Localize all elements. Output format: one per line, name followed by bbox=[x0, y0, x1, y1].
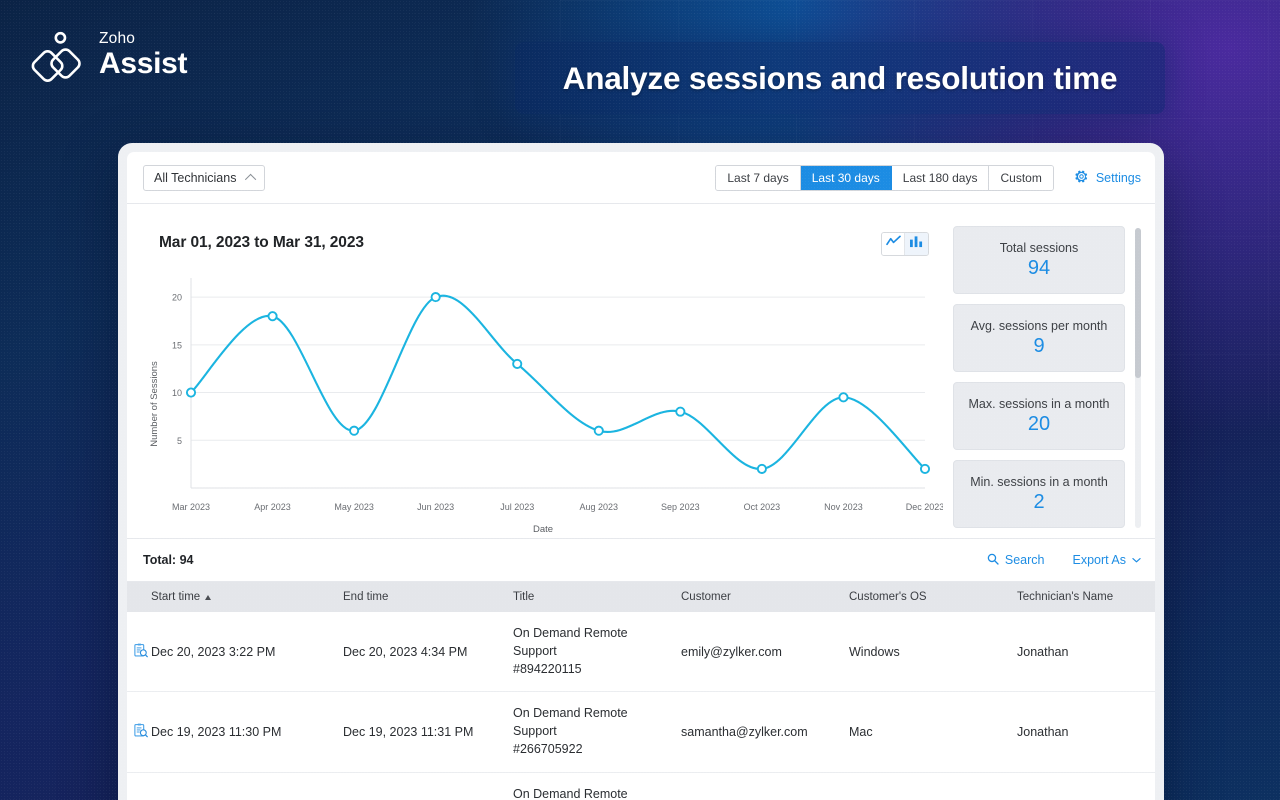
x-axis-tick-label: Dec 2023 bbox=[906, 502, 943, 512]
chart-series-line bbox=[191, 296, 925, 469]
row-end-time: Nov 29, 2023 7:11 AM bbox=[337, 772, 507, 800]
app-window: All Technicians Last 7 days Last 30 days… bbox=[118, 143, 1164, 800]
logo-zoho-text: Zoho bbox=[99, 31, 187, 47]
range-last-7-days[interactable]: Last 7 days bbox=[716, 166, 800, 190]
row-start-time: Dec 19, 2023 11:30 PM bbox=[145, 692, 337, 772]
stat-value: 94 bbox=[1028, 257, 1050, 280]
settings-button[interactable]: Settings bbox=[1074, 169, 1141, 187]
table-row[interactable]: Dec 20, 2023 3:22 PMDec 20, 2023 4:34 PM… bbox=[127, 612, 1155, 692]
x-axis-tick-label: Nov 2023 bbox=[824, 502, 863, 512]
x-axis-tick-label: Mar 2023 bbox=[172, 502, 210, 512]
chart-range-title: Mar 01, 2023 to Mar 31, 2023 bbox=[143, 220, 364, 252]
search-icon bbox=[987, 553, 999, 568]
chart-data-point[interactable] bbox=[187, 388, 195, 396]
sort-ascending-icon bbox=[205, 595, 211, 600]
stat-label: Total sessions bbox=[1000, 241, 1079, 255]
date-range-segmented-control: Last 7 days Last 30 days Last 180 days C… bbox=[715, 165, 1053, 191]
row-technician: Jonathan bbox=[1011, 692, 1155, 772]
col-label: Title bbox=[513, 591, 534, 603]
row-title: On Demand RemoteSupport#894220115 bbox=[507, 612, 675, 692]
col-label: Technician's Name bbox=[1017, 591, 1113, 603]
table-col-icon bbox=[127, 582, 145, 612]
range-custom[interactable]: Custom bbox=[989, 166, 1052, 190]
row-report-icon-cell[interactable] bbox=[127, 692, 145, 772]
session-list-table: Start time End time Title Customer bbox=[127, 582, 1155, 800]
row-report-icon-cell[interactable] bbox=[127, 612, 145, 692]
slide-title-banner: Analyze sessions and resolution time bbox=[515, 42, 1165, 114]
stat-label: Max. sessions in a month bbox=[968, 397, 1109, 411]
chart-y-axis-label: Number of Sessions bbox=[149, 361, 160, 447]
y-axis-tick-label: 10 bbox=[172, 388, 182, 398]
range-last-180-days[interactable]: Last 180 days bbox=[892, 166, 990, 190]
export-as-button[interactable]: Export As bbox=[1073, 553, 1142, 567]
x-axis-tick-label: Sep 2023 bbox=[661, 502, 700, 512]
summary-stats-column: Total sessions 94 Avg. sessions per mont… bbox=[953, 220, 1141, 538]
gear-icon bbox=[1074, 169, 1089, 187]
chart-view-toggle bbox=[881, 232, 929, 256]
settings-label: Settings bbox=[1096, 171, 1141, 185]
x-axis-tick-label: Oct 2023 bbox=[744, 502, 781, 512]
chart-data-point[interactable] bbox=[839, 393, 847, 401]
stat-value: 2 bbox=[1033, 491, 1044, 514]
col-label: Start time bbox=[151, 591, 200, 603]
chart-region: Mar 01, 2023 to Mar 31, 2023 bbox=[127, 204, 1155, 538]
y-axis-tick-label: 15 bbox=[172, 340, 182, 350]
app-content: All Technicians Last 7 days Last 30 days… bbox=[127, 152, 1155, 800]
table-header-row: Start time End time Title Customer bbox=[127, 582, 1155, 612]
row-customer-os: Mac bbox=[843, 772, 1011, 800]
row-start-time: Dec 20, 2023 3:22 PM bbox=[145, 612, 337, 692]
report-toolbar: All Technicians Last 7 days Last 30 days… bbox=[127, 152, 1155, 204]
chevron-down-icon bbox=[245, 173, 256, 184]
session-report-icon[interactable] bbox=[133, 643, 148, 661]
x-axis-tick-label: Jun 2023 bbox=[417, 502, 454, 512]
col-label: Customer's OS bbox=[849, 591, 927, 603]
y-axis-tick-label: 20 bbox=[172, 293, 182, 303]
x-axis-tick-label: Apr 2023 bbox=[254, 502, 291, 512]
row-title: On Demand RemoteSupport#567626019 bbox=[507, 772, 675, 800]
stat-label: Avg. sessions per month bbox=[971, 319, 1108, 333]
chart-header: Mar 01, 2023 to Mar 31, 2023 bbox=[143, 220, 939, 256]
zoho-assist-logo: Zoho Assist bbox=[30, 27, 187, 85]
row-customer: samantha@zylker.com bbox=[675, 692, 843, 772]
chart-plot-area: 5101520 Mar 2023Apr 2023May 2023Jun 2023… bbox=[143, 268, 939, 540]
x-axis-tick-label: Jul 2023 bbox=[500, 502, 534, 512]
row-customer: emily@zylker.com bbox=[675, 612, 843, 692]
chart-data-point[interactable] bbox=[595, 427, 603, 435]
stat-card-min-sessions-in-a-month: Min. sessions in a month 2 bbox=[953, 460, 1125, 528]
chevron-down-icon bbox=[1132, 553, 1141, 567]
stat-card-total-sessions: Total sessions 94 bbox=[953, 226, 1125, 294]
technician-filter-dropdown[interactable]: All Technicians bbox=[143, 165, 265, 191]
table-col-customer-os[interactable]: Customer's OS bbox=[843, 582, 1011, 612]
stat-card-max-sessions-in-a-month: Max. sessions in a month 20 bbox=[953, 382, 1125, 450]
total-count-label: Total: 94 bbox=[143, 553, 193, 567]
chart-data-point[interactable] bbox=[676, 408, 684, 416]
y-axis-tick-label: 5 bbox=[177, 436, 182, 446]
bar-chart-icon bbox=[909, 235, 924, 253]
range-last-30-days[interactable]: Last 30 days bbox=[801, 166, 892, 190]
bar-chart-icon-button[interactable] bbox=[905, 233, 928, 255]
chart-x-axis-label: Date bbox=[533, 524, 553, 535]
table-row[interactable]: Nov 29, 2023 7:09 AMNov 29, 2023 7:11 AM… bbox=[127, 772, 1155, 800]
chart-data-point[interactable] bbox=[432, 293, 440, 301]
col-label: End time bbox=[343, 591, 388, 603]
row-end-time: Dec 20, 2023 4:34 PM bbox=[337, 612, 507, 692]
row-customer: samatha@zylker.com bbox=[675, 772, 843, 800]
sessions-chart-card: Mar 01, 2023 to Mar 31, 2023 bbox=[143, 220, 939, 538]
chart-data-point[interactable] bbox=[758, 465, 766, 473]
table-col-start-time[interactable]: Start time bbox=[145, 582, 337, 612]
table-col-end-time[interactable]: End time bbox=[337, 582, 507, 612]
table-col-title[interactable]: Title bbox=[507, 582, 675, 612]
stats-scrollbar[interactable] bbox=[1135, 228, 1141, 528]
x-axis-tick-label: Aug 2023 bbox=[580, 502, 619, 512]
col-label: Customer bbox=[681, 591, 731, 603]
sessions-line-chart: 5101520 Mar 2023Apr 2023May 2023Jun 2023… bbox=[143, 268, 943, 540]
search-button[interactable]: Search bbox=[987, 553, 1045, 568]
row-start-time: Nov 29, 2023 7:09 AM bbox=[145, 772, 337, 800]
export-as-label: Export As bbox=[1073, 553, 1127, 567]
logo-assist-text: Assist bbox=[99, 49, 187, 79]
row-technician: Jonathan bbox=[1011, 772, 1155, 800]
stat-label: Min. sessions in a month bbox=[970, 475, 1108, 489]
zoho-assist-logo-icon bbox=[30, 27, 88, 85]
chart-data-point[interactable] bbox=[921, 465, 929, 473]
technician-filter-value: All Technicians bbox=[154, 171, 236, 185]
row-end-time: Dec 19, 2023 11:31 PM bbox=[337, 692, 507, 772]
row-customer-os: Mac bbox=[843, 692, 1011, 772]
line-chart-icon-button[interactable] bbox=[882, 233, 905, 255]
row-customer-os: Windows bbox=[843, 612, 1011, 692]
table-row[interactable]: Dec 19, 2023 11:30 PMDec 19, 2023 11:31 … bbox=[127, 692, 1155, 772]
slide-title: Analyze sessions and resolution time bbox=[563, 60, 1118, 97]
table-col-customer[interactable]: Customer bbox=[675, 582, 843, 612]
stat-value: 20 bbox=[1028, 413, 1050, 436]
session-report-icon[interactable] bbox=[133, 723, 148, 741]
table-body: Dec 20, 2023 3:22 PMDec 20, 2023 4:34 PM… bbox=[127, 612, 1155, 800]
line-chart-icon bbox=[886, 235, 901, 253]
stat-card-avg-sessions-per-month: Avg. sessions per month 9 bbox=[953, 304, 1125, 372]
logo-wordmark: Zoho Assist bbox=[99, 31, 187, 81]
row-title: On Demand RemoteSupport#266705922 bbox=[507, 692, 675, 772]
row-technician: Jonathan bbox=[1011, 612, 1155, 692]
row-report-icon-cell[interactable] bbox=[127, 772, 145, 800]
table-col-technician-name[interactable]: Technician's Name bbox=[1011, 582, 1155, 612]
promo-slide: Zoho Assist Analyze sessions and resolut… bbox=[0, 0, 1280, 800]
search-label: Search bbox=[1005, 553, 1045, 567]
chart-data-point[interactable] bbox=[513, 360, 521, 368]
chart-data-point[interactable] bbox=[268, 312, 276, 320]
x-axis-tick-label: May 2023 bbox=[334, 502, 374, 512]
chart-data-point[interactable] bbox=[350, 427, 358, 435]
stat-value: 9 bbox=[1033, 335, 1044, 358]
session-list-toolbar: Total: 94 Search Export As bbox=[127, 538, 1155, 582]
